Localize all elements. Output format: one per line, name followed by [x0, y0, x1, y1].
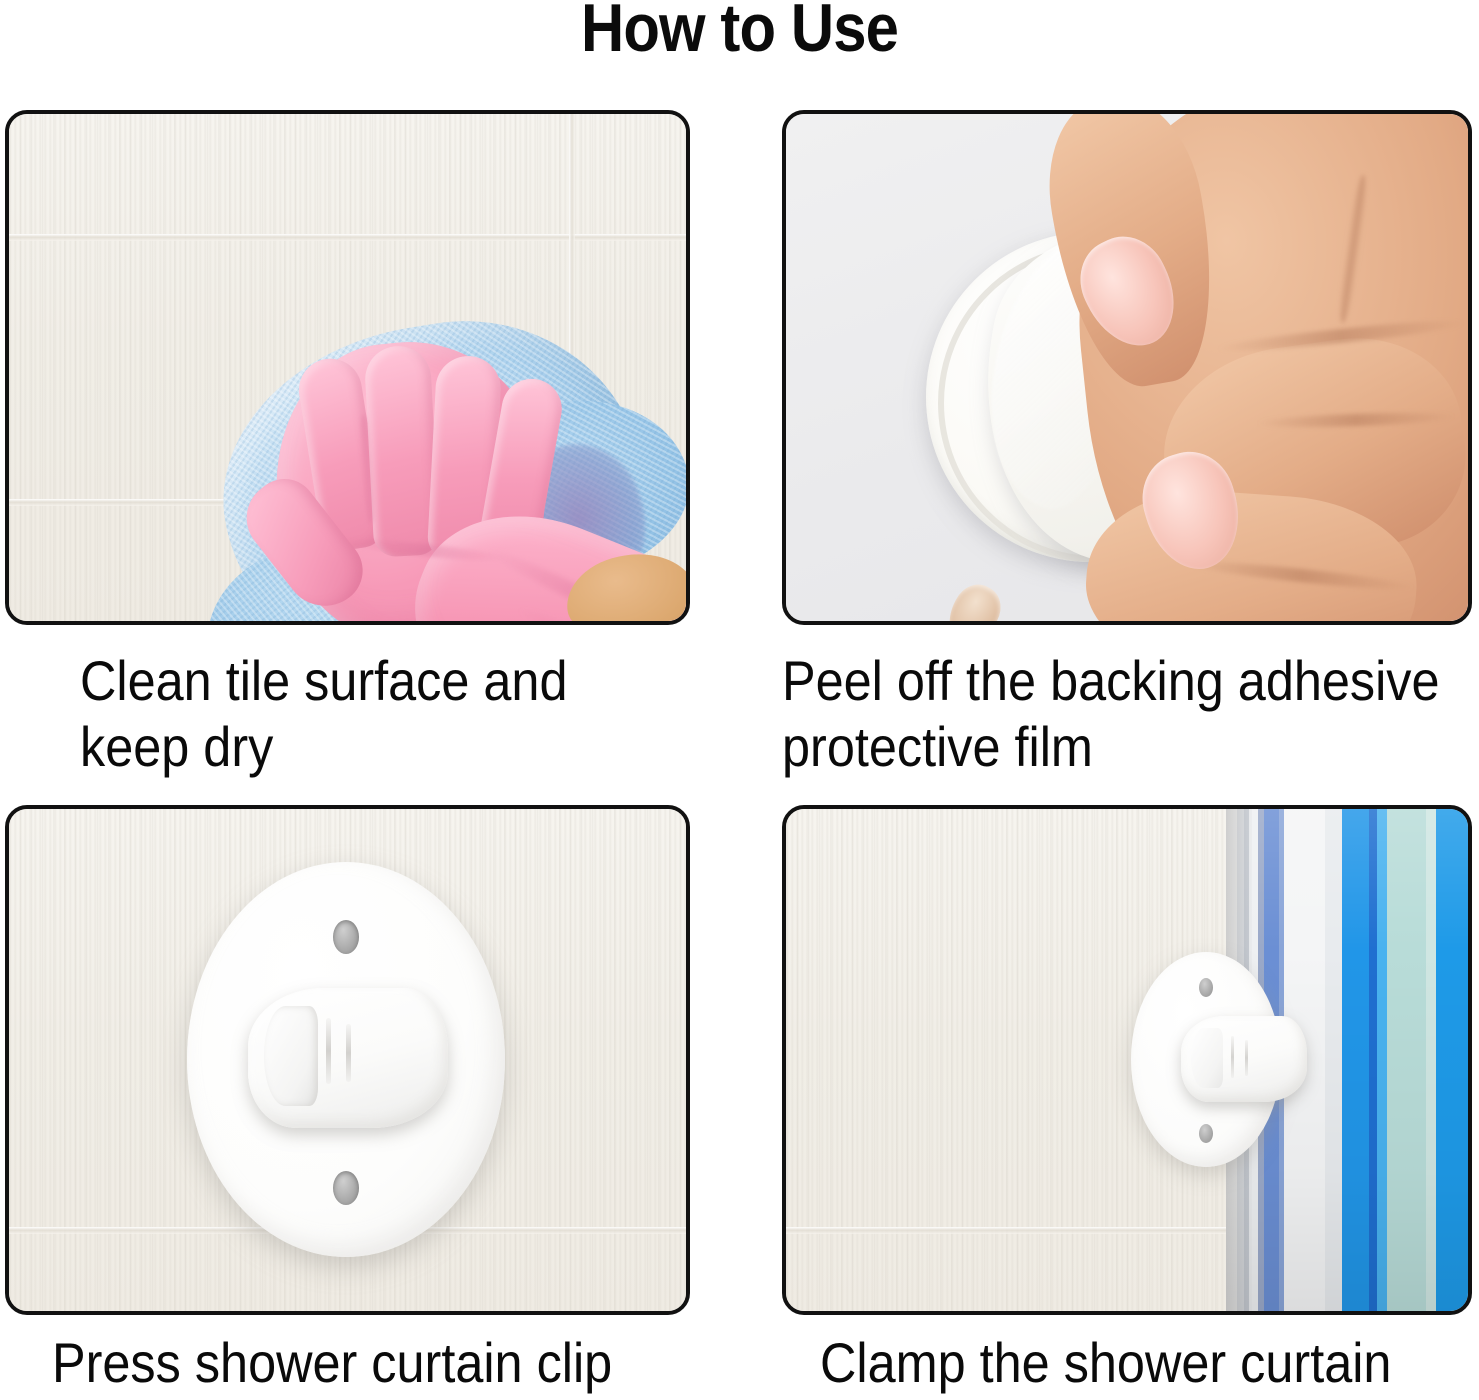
mount-hole	[333, 920, 359, 954]
step-2-caption: Peel off the backing adhesive protective…	[782, 648, 1479, 780]
step-3	[5, 805, 690, 1315]
clip-lip	[1191, 1028, 1223, 1088]
mount-hole	[1199, 978, 1213, 997]
curtain-stripe	[1342, 809, 1369, 1311]
step-1-caption: Clean tile surface and keep dry	[80, 648, 764, 780]
clip-ridge	[346, 1024, 351, 1082]
clip-lip	[264, 1006, 318, 1106]
clip-ridge	[1245, 1040, 1248, 1076]
mount-hole	[333, 1171, 359, 1205]
step-4	[782, 805, 1472, 1315]
step-2	[782, 110, 1472, 625]
curtain-stripe	[1436, 809, 1468, 1311]
photo-peel-backing-film	[782, 110, 1472, 625]
curtain-clip	[1181, 1016, 1307, 1102]
tile-grout-line	[786, 1227, 1238, 1234]
curtain-clip	[248, 988, 448, 1128]
tile-grout-line	[9, 234, 686, 241]
curtain-stripe	[1377, 809, 1386, 1311]
photo-press-curtain-clip	[5, 805, 690, 1315]
photo-clamp-shower-curtain	[782, 805, 1472, 1315]
step-4-caption: Clamp the shower curtain	[820, 1330, 1479, 1396]
curtain-stripe	[1387, 809, 1426, 1311]
curtain-stripe	[1426, 809, 1435, 1311]
clip-ridge	[1231, 1036, 1234, 1078]
curtain-stripe	[1369, 809, 1377, 1311]
step-3-caption: Press shower curtain clip	[52, 1330, 736, 1396]
photo-clean-tile-surface	[5, 110, 690, 625]
mount-hole	[1199, 1124, 1213, 1143]
curtain-stripe	[1325, 809, 1343, 1311]
clip-ridge	[326, 1018, 331, 1084]
step-1	[5, 110, 690, 625]
